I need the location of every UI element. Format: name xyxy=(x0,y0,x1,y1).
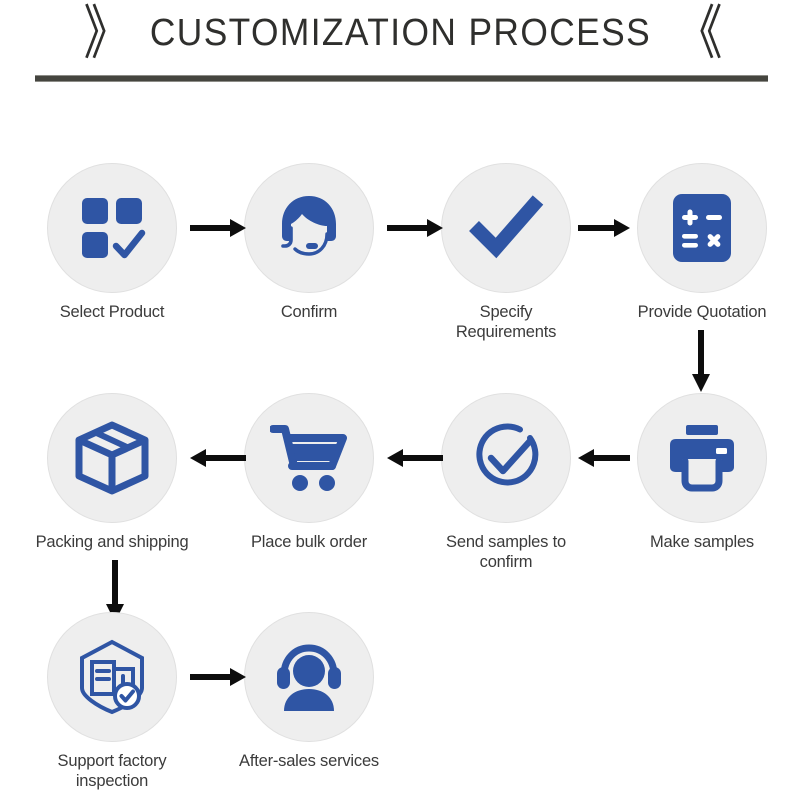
process-step-specify-requirements[interactable]: Specify Requirements xyxy=(428,163,584,342)
arrow-step9-step10 xyxy=(190,666,246,688)
step-icon-bubble xyxy=(637,163,767,293)
arrow-step2-step3 xyxy=(387,217,443,239)
grid-check-icon xyxy=(76,192,148,264)
step-label: Place bulk order xyxy=(231,532,387,552)
process-step-after-sales-services[interactable]: After-sales services xyxy=(231,612,387,771)
package-box-icon xyxy=(73,419,151,497)
step-label: Specify Requirements xyxy=(428,302,584,342)
step-icon-bubble xyxy=(47,163,177,293)
step-icon-bubble xyxy=(244,612,374,742)
factory-inspection-shield-icon xyxy=(73,638,151,716)
step-icon-bubble xyxy=(47,612,177,742)
process-step-confirm[interactable]: Confirm xyxy=(231,163,387,322)
arrow-step3-step4 xyxy=(578,217,630,239)
step-icon-bubble xyxy=(47,393,177,523)
step-icon-bubble xyxy=(637,393,767,523)
arrow-step8-step7 xyxy=(578,447,630,469)
step-label: Send samples to confirm xyxy=(428,532,584,572)
printer-icon xyxy=(664,423,740,493)
process-step-provide-quotation[interactable]: Provide Quotation xyxy=(624,163,780,322)
step-label: Support factory inspection xyxy=(34,751,190,791)
calculator-icon xyxy=(667,191,737,265)
step-icon-bubble xyxy=(244,393,374,523)
process-step-support-factory-inspection[interactable]: Support factory inspection xyxy=(34,612,190,791)
step-icon-bubble xyxy=(441,163,571,293)
step-label: Make samples xyxy=(624,532,780,552)
process-step-select-product[interactable]: Select Product xyxy=(34,163,190,322)
step-icon-bubble xyxy=(244,163,374,293)
circle-check-icon xyxy=(467,419,545,497)
process-flow-diagram: Select Product Confirm Specify Requirem xyxy=(0,0,800,800)
shopping-cart-icon xyxy=(270,422,348,494)
process-step-packing-and-shipping[interactable]: Packing and shipping xyxy=(34,393,190,552)
headset-person-icon xyxy=(270,641,348,713)
step-label: Provide Quotation xyxy=(624,302,780,322)
step-icon-bubble xyxy=(441,393,571,523)
check-mark-icon xyxy=(466,192,546,264)
process-step-place-bulk-order[interactable]: Place bulk order xyxy=(231,393,387,552)
step-label: After-sales services xyxy=(231,751,387,771)
arrow-step6-step5 xyxy=(190,447,246,469)
process-step-make-samples[interactable]: Make samples xyxy=(624,393,780,552)
step-label: Packing and shipping xyxy=(34,532,190,552)
support-agent-icon xyxy=(269,188,349,268)
step-label: Confirm xyxy=(231,302,387,322)
arrow-step1-step2 xyxy=(190,217,246,239)
process-step-send-samples-to-confirm[interactable]: Send samples to confirm xyxy=(428,393,584,572)
arrow-step4-step8 xyxy=(690,330,712,392)
step-label: Select Product xyxy=(34,302,190,322)
arrow-step7-step6 xyxy=(387,447,443,469)
